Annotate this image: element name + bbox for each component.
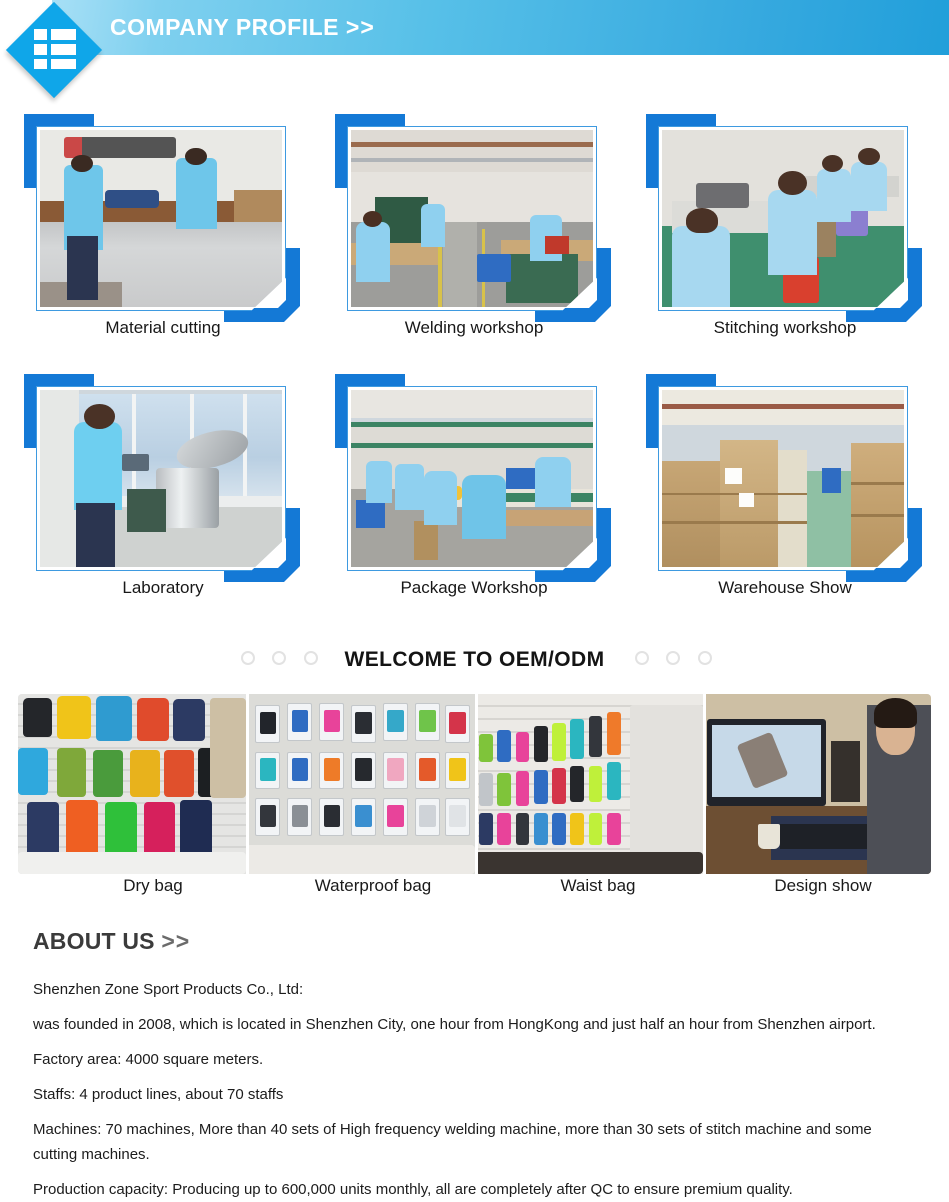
card-caption: Laboratory (18, 578, 308, 598)
welcome-text: WELCOME TO OEM/ODM (0, 638, 949, 682)
panorama-pane-design-show (703, 694, 931, 874)
about-paragraph: Machines: 70 machines, More than 40 sets… (33, 1117, 915, 1167)
panorama-pane-dry-bag (18, 694, 246, 874)
photo-stitching-workshop (662, 130, 904, 307)
panorama-image (18, 694, 931, 874)
panorama-caption: Waist bag (513, 876, 683, 896)
panorama-pane-waterproof-bag (246, 694, 474, 874)
photo-warehouse-show (662, 390, 904, 567)
card-caption: Material cutting (18, 318, 308, 338)
about-paragraph: Production capacity: Producing up to 600… (33, 1177, 915, 1202)
photo-frame (347, 126, 597, 311)
card-caption: Package Workshop (329, 578, 619, 598)
card-caption: Warehouse Show (640, 578, 930, 598)
carousel-dots-right[interactable] (635, 651, 725, 670)
card-caption: Welding workshop (329, 318, 619, 338)
photo-laboratory (40, 390, 282, 567)
header-badge (6, 2, 102, 98)
facility-photo-grid: Material cutting (0, 112, 949, 632)
page-title: COMPANY PROFILE >> (110, 0, 375, 55)
photo-card-material-cutting[interactable]: Material cutting (18, 112, 308, 372)
about-heading-chevrons: >> (161, 928, 190, 954)
photo-package-workshop (351, 390, 593, 567)
photo-frame (658, 386, 908, 571)
about-paragraph: Staffs: 4 product lines, about 70 staffs (33, 1082, 915, 1107)
grid-list-icon (34, 29, 76, 69)
photo-card-warehouse-show[interactable]: Warehouse Show (640, 372, 930, 632)
dot-indicator[interactable] (635, 651, 649, 665)
photo-frame (347, 386, 597, 571)
photo-frame (658, 126, 908, 311)
dot-indicator[interactable] (666, 651, 680, 665)
photo-card-laboratory[interactable]: Laboratory (18, 372, 308, 632)
photo-card-package-workshop[interactable]: Package Workshop (329, 372, 619, 632)
dot-indicator[interactable] (698, 651, 712, 665)
about-us-section: ABOUT US >> Shenzhen Zone Sport Products… (33, 928, 923, 1202)
photo-row-top: Material cutting (0, 112, 949, 372)
photo-material-cutting (40, 130, 282, 307)
photo-welding-workshop (351, 130, 593, 307)
photo-frame (36, 126, 286, 311)
showroom-panorama: Dry bag Waterproof bag Waist bag Design … (18, 694, 931, 912)
panorama-pane-waist-bag (475, 694, 703, 874)
card-caption: Stitching workshop (640, 318, 930, 338)
about-paragraph: Factory area: 4000 square meters. (33, 1047, 915, 1072)
panorama-caption: Dry bag (68, 876, 238, 896)
panorama-caption: Design show (728, 876, 918, 896)
panorama-caption: Waterproof bag (273, 876, 473, 896)
photo-card-welding-workshop[interactable]: Welding workshop (329, 112, 619, 372)
photo-card-stitching-workshop[interactable]: Stitching workshop (640, 112, 930, 372)
photo-frame (36, 386, 286, 571)
about-heading-text: ABOUT US (33, 928, 155, 954)
company-profile-header: COMPANY PROFILE >> (0, 0, 949, 55)
welcome-banner: WELCOME TO OEM/ODM (0, 638, 949, 682)
about-heading: ABOUT US >> (33, 928, 923, 955)
about-paragraph: Shenzhen Zone Sport Products Co., Ltd: (33, 977, 915, 1002)
about-paragraph: was founded in 2008, which is located in… (33, 1012, 915, 1037)
page-title-chevrons: >> (346, 14, 375, 40)
page-title-text: COMPANY PROFILE (110, 14, 339, 40)
photo-row-bottom: Laboratory (0, 372, 949, 632)
